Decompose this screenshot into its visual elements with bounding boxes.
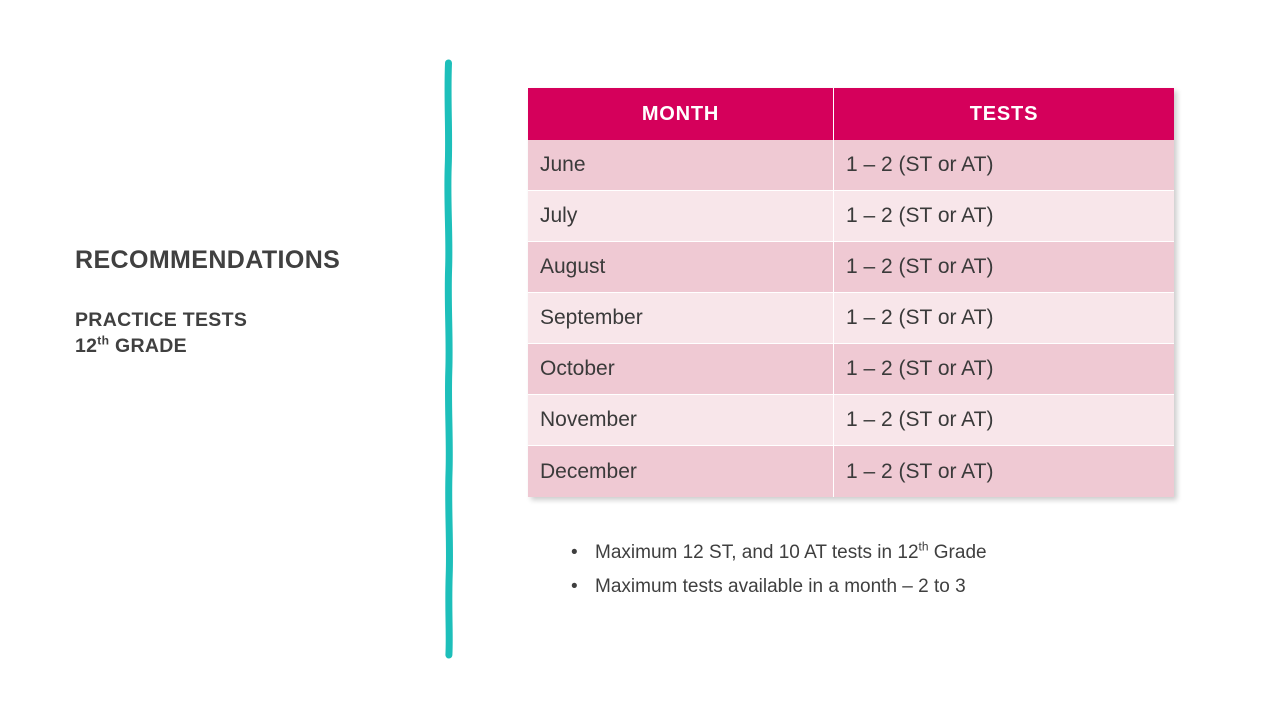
grade-ordinal: th — [97, 334, 109, 348]
page-subtitle: PRACTICE TESTS 12th GRADE — [75, 307, 420, 360]
table-row: August 1 – 2 (ST or AT) — [528, 242, 1174, 293]
list-item: •Maximum 12 ST, and 10 AT tests in 12th … — [568, 536, 1188, 570]
table-row: November 1 – 2 (ST or AT) — [528, 395, 1174, 446]
practice-test-schedule-table: MONTH TESTS June 1 – 2 (ST or AT) July 1… — [528, 88, 1174, 497]
table-row: October 1 – 2 (ST or AT) — [528, 344, 1174, 395]
slide-canvas: RECOMMENDATIONS PRACTICE TESTS 12th GRAD… — [0, 0, 1280, 720]
subtitle-line-1: PRACTICE TESTS — [75, 307, 420, 333]
bullet-dot-icon: • — [571, 536, 578, 570]
cell-tests: 1 – 2 (ST or AT) — [834, 446, 1174, 497]
column-header-month: MONTH — [528, 88, 834, 140]
notes-bullet-list: •Maximum 12 ST, and 10 AT tests in 12th … — [568, 536, 1188, 604]
cell-month: November — [528, 395, 834, 446]
bullet-text-prefix: Maximum 12 ST, and 10 AT tests in 12 — [595, 542, 919, 563]
cell-month: October — [528, 344, 834, 395]
teal-brush-stroke-icon — [428, 55, 468, 665]
cell-month: July — [528, 191, 834, 242]
cell-tests: 1 – 2 (ST or AT) — [834, 344, 1174, 395]
table-row: September 1 – 2 (ST or AT) — [528, 293, 1174, 344]
grade-word: GRADE — [109, 335, 187, 357]
title-block: RECOMMENDATIONS PRACTICE TESTS 12th GRAD… — [75, 246, 420, 360]
table-row: July 1 – 2 (ST or AT) — [528, 191, 1174, 242]
bullet-text-prefix: Maximum tests available in a month – 2 t… — [595, 576, 966, 597]
page-title: RECOMMENDATIONS — [75, 246, 420, 274]
table-header-row: MONTH TESTS — [528, 88, 1174, 140]
cell-tests: 1 – 2 (ST or AT) — [834, 293, 1174, 344]
table-row: December 1 – 2 (ST or AT) — [528, 446, 1174, 497]
subtitle-line-2: 12th GRADE — [75, 333, 420, 359]
cell-tests: 1 – 2 (ST or AT) — [834, 140, 1174, 191]
teal-divider-line — [428, 55, 468, 665]
cell-month: September — [528, 293, 834, 344]
cell-tests: 1 – 2 (ST or AT) — [834, 191, 1174, 242]
cell-month: August — [528, 242, 834, 293]
cell-tests: 1 – 2 (ST or AT) — [834, 242, 1174, 293]
bullet-dot-icon: • — [571, 570, 578, 604]
table-row: June 1 – 2 (ST or AT) — [528, 140, 1174, 191]
column-header-tests: TESTS — [834, 88, 1174, 140]
cell-month: December — [528, 446, 834, 497]
grade-number: 12 — [75, 335, 97, 357]
bullet-ordinal: th — [919, 540, 929, 554]
list-item: •Maximum tests available in a month – 2 … — [568, 570, 1188, 604]
cell-month: June — [528, 140, 834, 191]
bullet-text-suffix: Grade — [929, 542, 987, 563]
cell-tests: 1 – 2 (ST or AT) — [834, 395, 1174, 446]
